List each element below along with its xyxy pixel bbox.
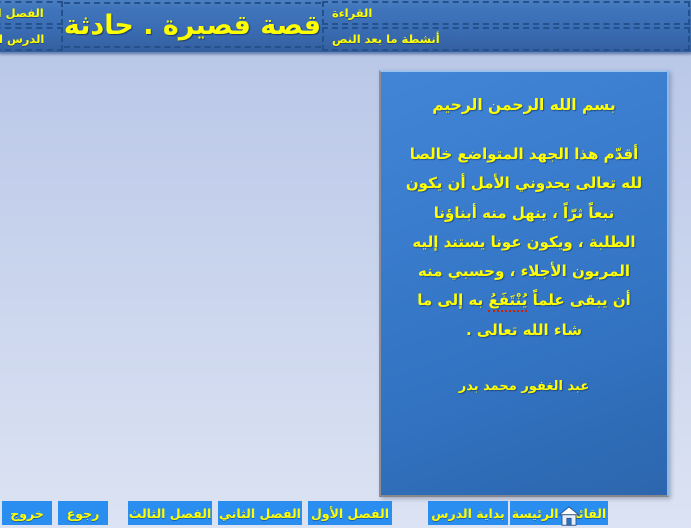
header-subject-label: القراءة: [332, 6, 372, 20]
dedication-line-5: المربون الأجلاء ، وحسبي منه: [397, 257, 651, 286]
dedication-line-7: شاء الله تعالى .: [397, 316, 651, 345]
dedication-line-3: نبعاً ثرّاً ، ينهل منه أبناؤنا: [397, 199, 651, 228]
dedication-text: أقدّم هذا الجهد المتواضع خالصا لله تعالى…: [397, 140, 651, 345]
main-menu-label: القائمة الرئيسة: [512, 506, 607, 521]
back-button[interactable]: رجوع: [58, 501, 108, 525]
spellcheck-underlined-word: يُنْتَفَعُ: [488, 291, 527, 312]
header-lesson-cell: الدرس الرابع: [0, 27, 63, 51]
chapter-one-button[interactable]: الفصل الأول: [308, 501, 392, 525]
header-subject-cell: القراءة: [322, 1, 690, 25]
page-title-cell: قصة قصيرة . حادثة: [64, 2, 321, 48]
dedication-line-1: أقدّم هذا الجهد المتواضع خالصا: [397, 140, 651, 169]
author-signature: عبد الغفور محمد بدر: [397, 379, 651, 394]
chapter-three-button[interactable]: الفصل الثالث: [128, 501, 212, 525]
header-right-group: الفصل الأول الدرس الرابع: [0, 0, 64, 52]
header-lesson-label: الدرس الرابع: [0, 32, 44, 46]
exit-button[interactable]: خروج: [2, 501, 52, 525]
header-chapter-cell: الفصل الأول: [0, 1, 63, 25]
basmala-text: بسم الله الرحمن الرحيم: [397, 96, 651, 114]
dedication-line-2: لله تعالى يحدوني الأمل أن يكون: [397, 169, 651, 198]
dedication-line-6-pre: أن يبقى علماً: [527, 291, 630, 309]
dedication-line-6-post: به إلى ما: [417, 291, 488, 309]
content-panel: بسم الله الرحمن الرحيم أقدّم هذا الجهد ا…: [379, 70, 669, 497]
header-band: القراءة أنشطة ما بعد النص قصة قصيرة . حا…: [0, 0, 691, 52]
header-activity-cell: أنشطة ما بعد النص: [322, 27, 690, 51]
lesson-start-button[interactable]: بداية الدرس: [428, 501, 508, 525]
bottom-navigation-bar: خروج رجوع الفصل الثالث الفصل الثاني الفص…: [0, 497, 691, 528]
header-left-group: القراءة أنشطة ما بعد النص: [321, 0, 691, 52]
page-title: قصة قصيرة . حادثة: [64, 10, 321, 41]
header-activity-label: أنشطة ما بعد النص: [332, 32, 440, 46]
main-menu-button[interactable]: القائمة الرئيسة: [510, 501, 608, 525]
header-chapter-label: الفصل الأول: [0, 6, 44, 20]
dedication-line-4: الطلبة ، ويكون عونا يستند إليه: [397, 228, 651, 257]
dedication-line-6: أن يبقى علماً يُنْتَفَعُ به إلى ما: [397, 286, 651, 315]
chapter-two-button[interactable]: الفصل الثاني: [218, 501, 302, 525]
